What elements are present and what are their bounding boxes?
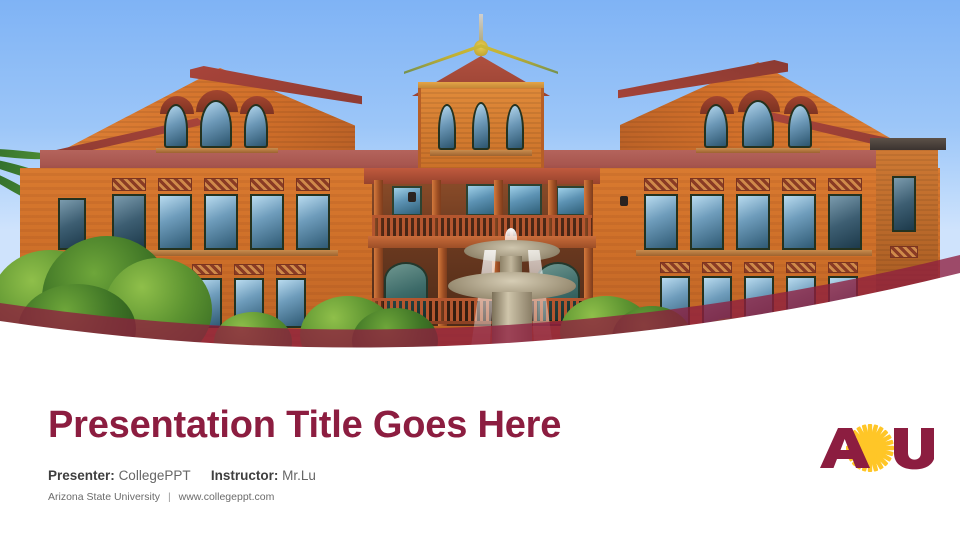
- page-title: Presentation Title Goes Here: [48, 404, 561, 447]
- organization-website-line: Arizona State University | www.collegepp…: [48, 491, 274, 503]
- website-url[interactable]: www.collegeppt.com: [179, 491, 275, 503]
- veranda-lamp-icon: [408, 192, 416, 202]
- brick-vent: [782, 178, 816, 191]
- text-separator: |: [163, 491, 176, 503]
- brick-vent: [702, 262, 732, 273]
- tower-window-sill: [430, 150, 532, 156]
- instructor-value: Mr.Lu: [282, 468, 316, 483]
- presenter-instructor-line: Presenter: CollegePPT Instructor: Mr.Lu: [48, 468, 316, 483]
- second-floor-window: [782, 194, 816, 250]
- brick-vent: [234, 264, 264, 275]
- banner-photo: [0, 0, 960, 372]
- brick-vent: [690, 178, 724, 191]
- shrub: [352, 308, 438, 372]
- second-floor-window: [828, 194, 862, 250]
- shrub: [690, 318, 776, 372]
- first-floor-window: [786, 276, 816, 328]
- brick-vent: [204, 178, 238, 191]
- veranda-upper-window: [392, 186, 422, 216]
- brick-vent: [828, 178, 862, 191]
- brick-vent: [744, 262, 774, 273]
- second-floor-window: [644, 194, 678, 250]
- gable-window: [788, 104, 812, 148]
- second-floor-window: [204, 194, 238, 250]
- shrub: [826, 316, 918, 372]
- brick-vent: [644, 178, 678, 191]
- brick-vent: [786, 262, 816, 273]
- brick-vent: [112, 178, 146, 191]
- tower-window: [506, 104, 524, 150]
- trademark-symbol: ®: [927, 428, 933, 436]
- old-main-building-image: [0, 0, 960, 372]
- right-end-block-cornice: [870, 138, 946, 150]
- gable-window: [742, 100, 774, 148]
- organization-name: Arizona State University: [48, 491, 160, 503]
- asu-logo-svg: S ®: [818, 424, 934, 476]
- gable-window-sill: [696, 148, 820, 153]
- second-floor-window: [296, 194, 330, 250]
- brick-vent: [296, 178, 330, 191]
- gable-window: [164, 104, 188, 148]
- presentation-slide: Presentation Title Goes Here Presenter: …: [0, 0, 960, 540]
- gable-window: [244, 104, 268, 148]
- brick-vent: [158, 178, 192, 191]
- veranda-lamp-icon: [620, 196, 628, 206]
- brick-vent: [660, 262, 690, 273]
- veranda-upper-window: [508, 184, 542, 216]
- brick-vent: [890, 246, 918, 258]
- second-floor-window: [736, 194, 770, 250]
- second-floor-window: [250, 194, 284, 250]
- presenter-label: Presenter:: [48, 468, 115, 483]
- veranda-roof: [364, 168, 600, 184]
- veranda-upper-window: [556, 186, 586, 216]
- tower-window: [472, 102, 490, 150]
- asu-logo: S ®: [818, 424, 934, 476]
- tower-window: [438, 104, 456, 150]
- gable-window: [704, 104, 728, 148]
- brick-vent: [736, 178, 770, 191]
- gable-window-sill: [156, 148, 278, 153]
- brick-vent: [828, 262, 858, 273]
- instructor-label: Instructor:: [211, 468, 279, 483]
- fountain-pedestal: [492, 292, 532, 354]
- brick-vent: [250, 178, 284, 191]
- shrub: [612, 306, 692, 370]
- second-floor-window: [690, 194, 724, 250]
- shrub: [18, 284, 136, 372]
- gable-window: [200, 100, 232, 148]
- presenter-value: CollegePPT: [119, 468, 191, 483]
- second-floor-sill: [636, 250, 872, 256]
- shrub: [214, 312, 292, 372]
- second-floor-window: [158, 194, 192, 250]
- brick-vent: [276, 264, 306, 275]
- end-block-window: [892, 176, 916, 232]
